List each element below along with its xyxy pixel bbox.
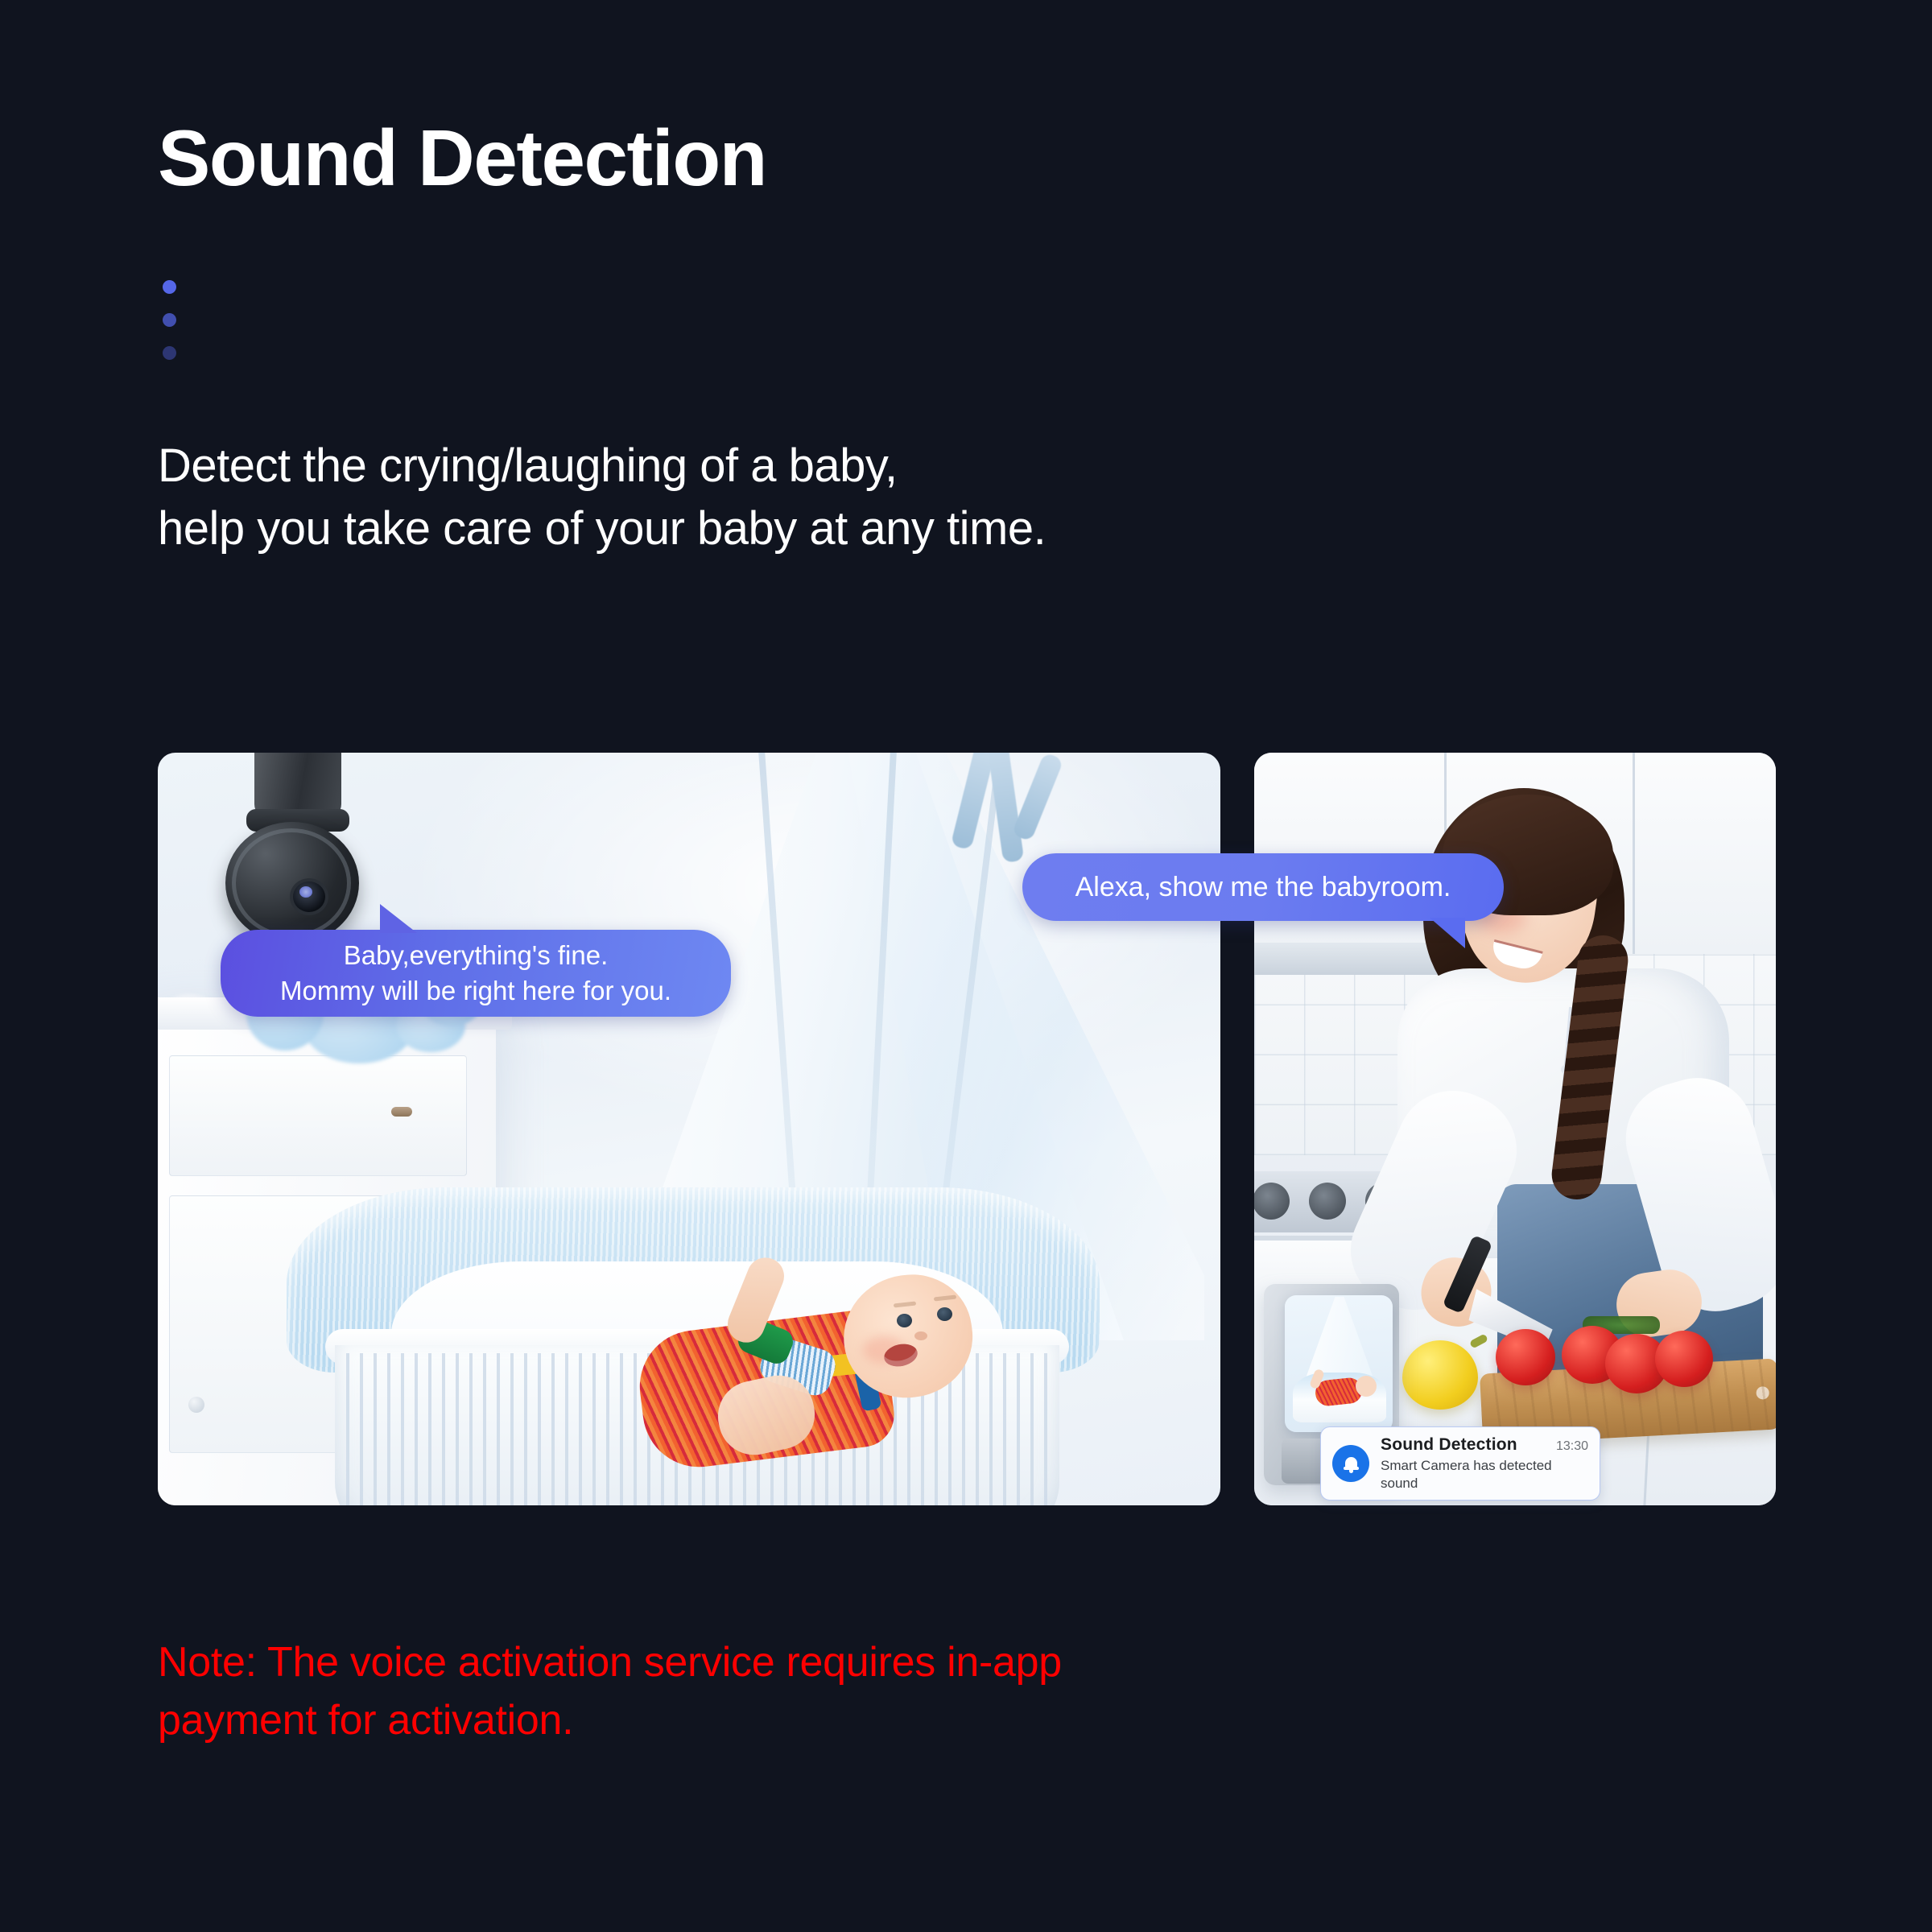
dot-icon — [163, 313, 176, 327]
footer-note: Note: The voice activation service requi… — [158, 1634, 1062, 1750]
notification-body: Sound Detection 13:30 Smart Camera has d… — [1381, 1435, 1588, 1492]
photo-panels — [158, 753, 1776, 1505]
bubble-line-2: Mommy will be right here for you. — [280, 976, 671, 1005]
notification-header: Sound Detection 13:30 — [1381, 1435, 1588, 1455]
dresser-drawer — [169, 1055, 467, 1176]
bubble-line-1: Baby,everything's fine. — [344, 940, 609, 970]
screen-baby-head — [1356, 1376, 1377, 1397]
notification-card[interactable]: Sound Detection 13:30 Smart Camera has d… — [1320, 1426, 1600, 1501]
notification-timestamp: 13:30 — [1556, 1439, 1588, 1454]
decorative-dots — [163, 280, 187, 379]
bubble-tail — [1430, 918, 1465, 948]
camera-ring — [232, 828, 351, 938]
bell-clapper — [1349, 1470, 1353, 1473]
notification-title: Sound Detection — [1381, 1435, 1517, 1455]
bubble-tail — [380, 904, 417, 933]
bell-glyph — [1344, 1456, 1359, 1472]
lemon — [1402, 1340, 1478, 1410]
baby-eye — [897, 1314, 912, 1327]
woman — [1401, 766, 1747, 1329]
dot-icon — [163, 346, 176, 360]
note-line-2: payment for activation. — [158, 1692, 1062, 1750]
security-camera-icon — [211, 753, 364, 914]
canopy-ribbon — [1011, 753, 1063, 842]
baby-eye — [937, 1307, 952, 1321]
baby-nose — [914, 1331, 927, 1340]
speech-bubble-camera: Baby,everything's fine. Mommy will be ri… — [221, 930, 731, 1017]
page-title: Sound Detection — [158, 117, 766, 200]
note-line-1: Note: The voice activation service requi… — [158, 1634, 1062, 1692]
notification-description: Smart Camera has detected sound — [1381, 1457, 1588, 1492]
subtitle-line-2: help you take care of your baby at any t… — [158, 497, 1046, 560]
marketing-slide: Sound Detection Detect the crying/laughi… — [0, 0, 1932, 1932]
bubble-text: Alexa, show me the babyroom. — [1075, 872, 1451, 903]
baby — [641, 1248, 979, 1465]
bubble-text: Baby,everything's fine. Mommy will be ri… — [280, 938, 671, 1009]
bell-icon — [1332, 1445, 1369, 1482]
burner — [1309, 1183, 1346, 1220]
burner — [1254, 1183, 1290, 1220]
camera-lens-glint — [299, 886, 312, 898]
speech-bubble-voice-command: Alexa, show me the babyroom. — [1022, 853, 1504, 921]
board-hole — [1756, 1386, 1769, 1400]
subtitle-line-1: Detect the crying/laughing of a baby, — [158, 435, 1046, 497]
display-screen — [1285, 1295, 1393, 1432]
dot-icon — [163, 280, 176, 294]
drawer-knob — [391, 1107, 412, 1117]
cabinet-knob — [188, 1397, 204, 1413]
tomato — [1655, 1331, 1713, 1387]
page-subtitle: Detect the crying/laughing of a baby, he… — [158, 435, 1046, 559]
tomato — [1496, 1329, 1555, 1385]
